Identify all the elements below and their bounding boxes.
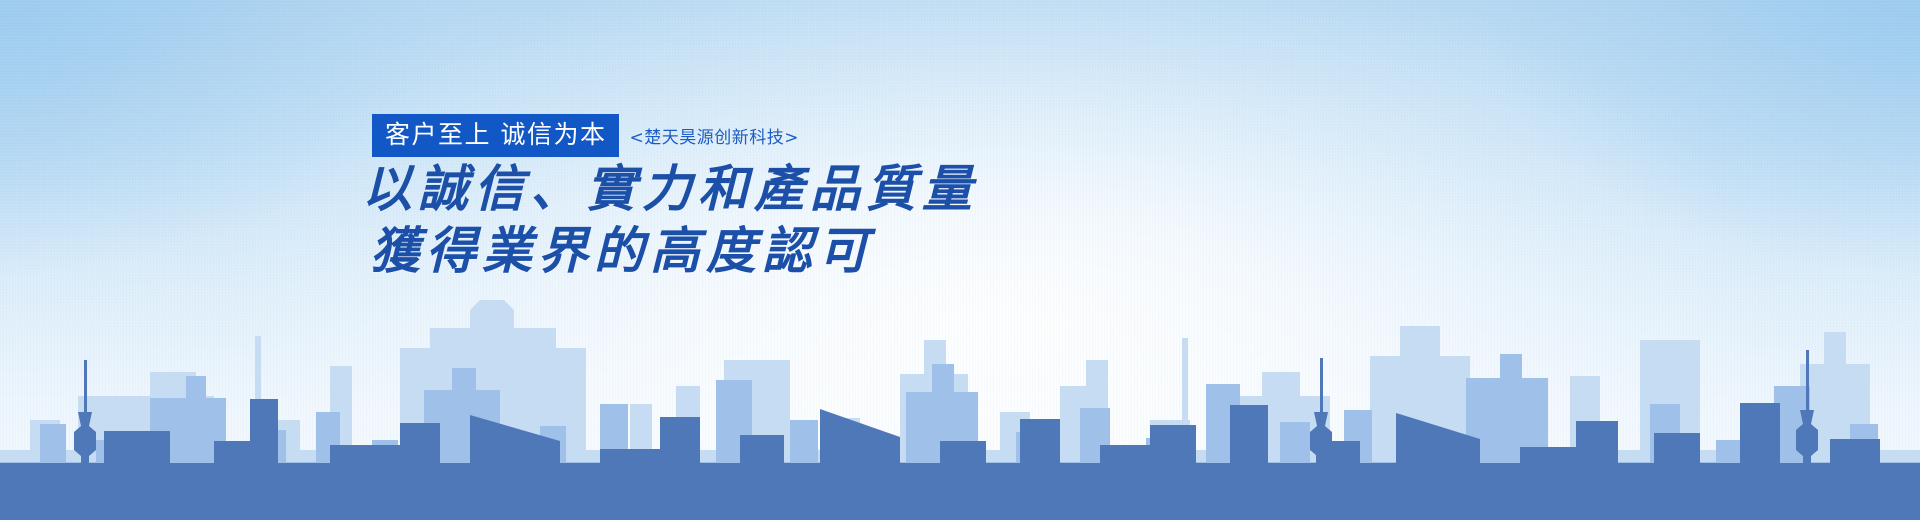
tagline-badge: 客户至上 诚信为本 <box>372 114 619 157</box>
headline: 以誠信、實力和產品質量 獲得業界的高度認可 <box>362 158 978 282</box>
headline-line-2: 獲得業界的高度認可 <box>362 220 978 282</box>
banner-content: 客户至上 诚信为本 <楚天昊源创新科技> 以誠信、實力和產品質量 獲得業界的高度… <box>0 0 1920 520</box>
tagline-row: 客户至上 诚信为本 <楚天昊源创新科技> <box>372 114 799 157</box>
headline-line-1: 以誠信、實力和產品質量 <box>362 158 978 220</box>
company-tag-label: <楚天昊源创新科技> <box>629 123 799 148</box>
hero-banner: 客户至上 诚信为本 <楚天昊源创新科技> 以誠信、實力和產品質量 獲得業界的高度… <box>0 0 1920 520</box>
